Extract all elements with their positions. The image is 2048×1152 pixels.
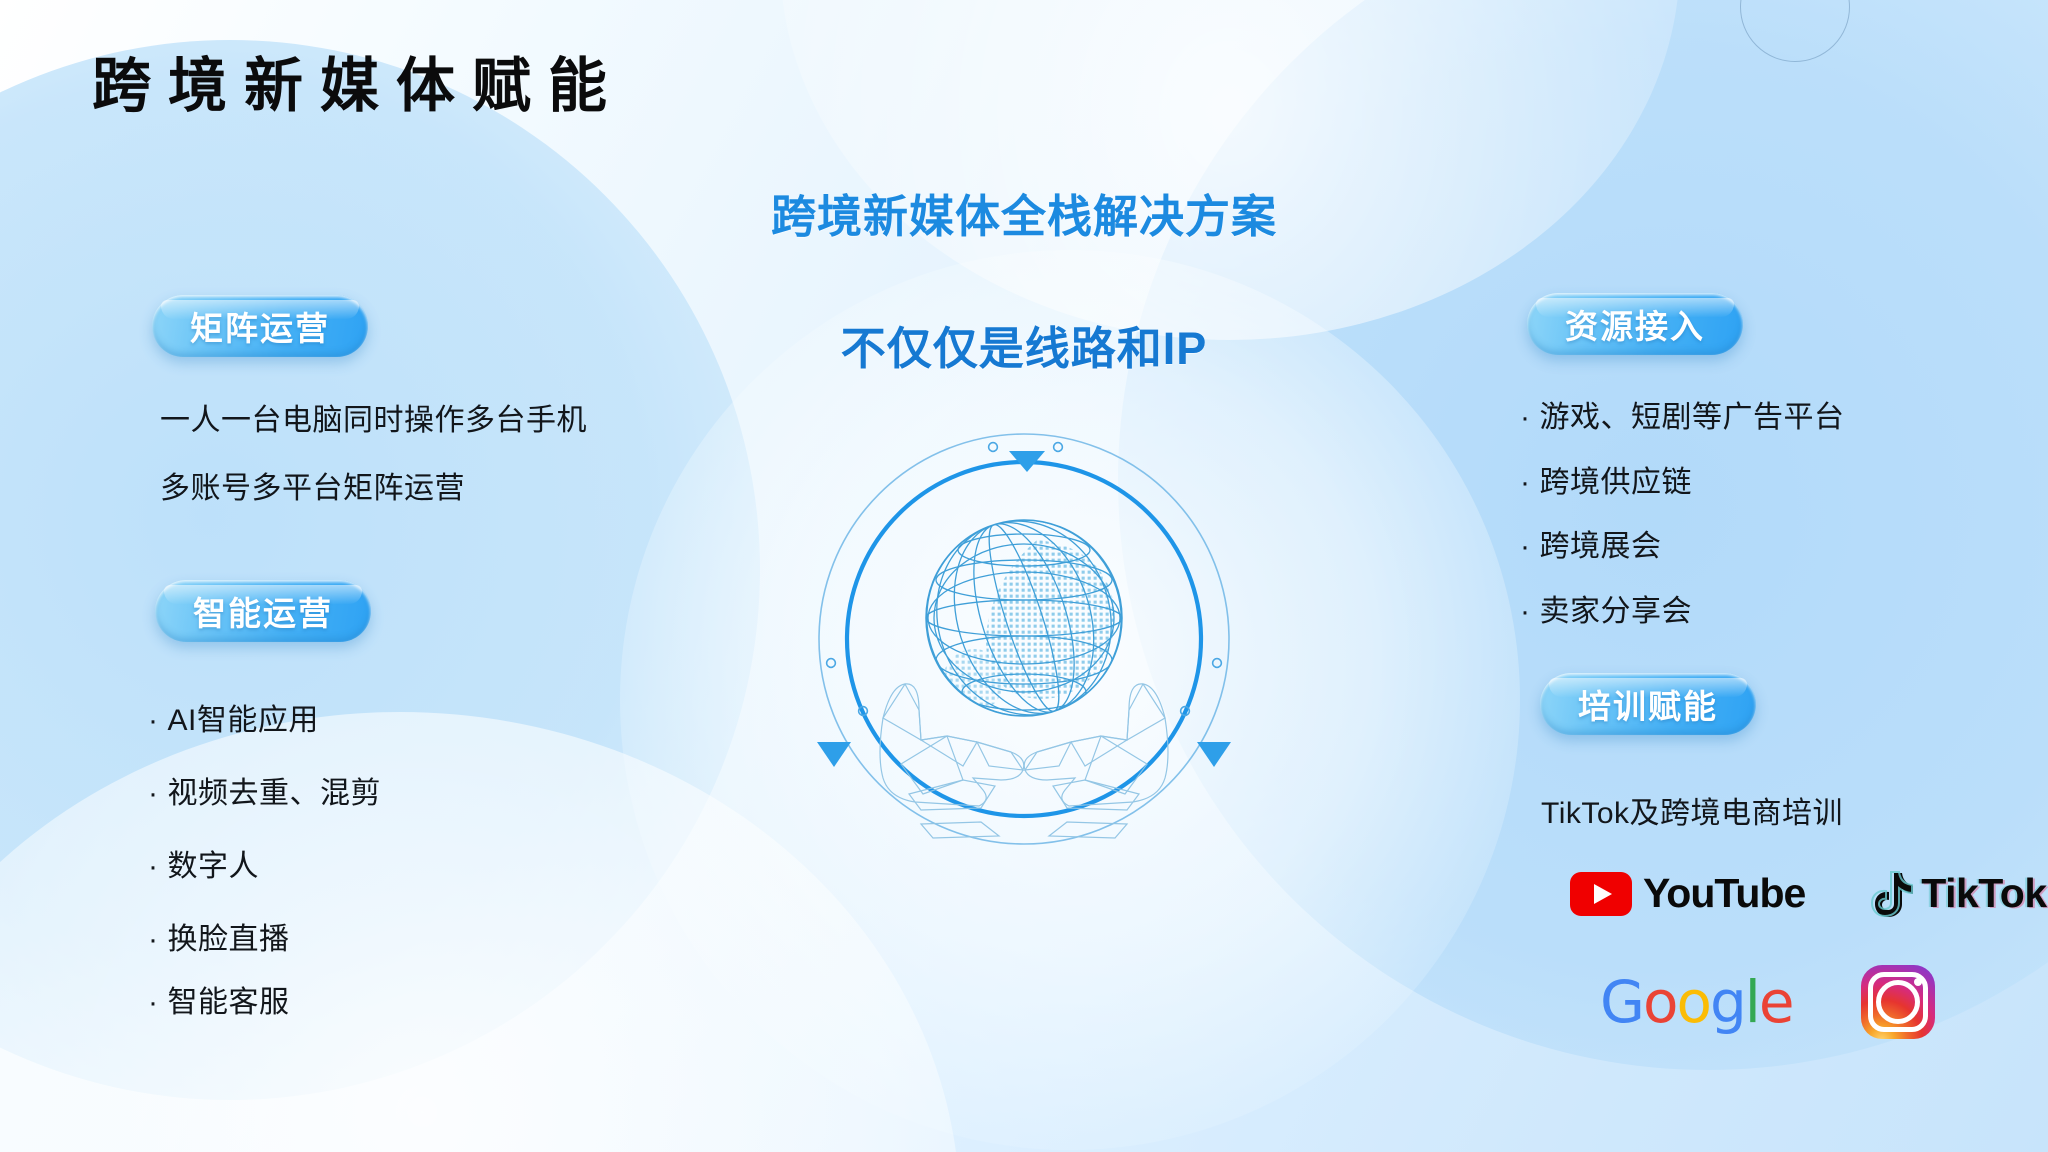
right-s1-item-1-label: 游戏、短剧等广告平台 [1540,401,1845,434]
badge-matrix-operations[interactable]: 矩阵运营 [152,295,368,357]
youtube-play-icon [1570,872,1632,916]
bullet-dot: · [148,777,159,811]
slide-canvas: 跨境新媒体赋能 跨境新媒体全栈解决方案 不仅仅是线路和IP [0,0,2048,1152]
google-letter-o2: o [1676,968,1710,1036]
google-letter-g1: G [1600,968,1643,1036]
bullet-dot: · [1520,530,1531,564]
tiktok-label: TikTok [1921,870,2046,917]
bullet-dot: · [1520,401,1531,435]
left-s2-item-2-label: 视频去重、混剪 [168,777,382,810]
google-letter-l: l [1745,968,1759,1036]
left-s1-item-2: 多账号多平台矩阵运营 [160,463,465,507]
logo-row-primary: YouTube TikTok [1570,870,2047,917]
center-headline-primary: 跨境新媒体全栈解决方案 [771,180,1277,245]
globe-illustration [805,420,1243,858]
left-s2-item-1: ·AI智能应用 [148,695,319,739]
google-letter-g2: g [1710,968,1745,1036]
badge-training-empowerment[interactable]: 培训赋能 [1540,673,1756,735]
left-s2-item-3-label: 数字人 [168,850,260,883]
right-s2-item-1: TikTok及跨境电商培训 [1541,788,1843,832]
left-s2-item-4: ·换脸直播 [148,914,290,958]
bullet-dot: · [148,923,159,957]
bullet-dot: · [148,986,159,1020]
badge-smart-operations[interactable]: 智能运营 [155,580,371,642]
center-headline-secondary: 不仅仅是线路和IP [841,312,1208,377]
left-s1-item-1: 一人一台电脑同时操作多台手机 [160,395,587,439]
bullet-dot: · [148,850,159,884]
logo-row-secondary: Google [1600,965,1935,1039]
background-top-sheen [780,0,1680,340]
left-s2-item-1-label: AI智能应用 [168,704,319,737]
google-logo[interactable]: Google [1600,968,1793,1036]
youtube-logo[interactable]: YouTube [1570,870,1805,917]
instagram-lens-icon [1876,980,1920,1024]
right-s1-item-3: ·跨境展会 [1520,521,1662,565]
globe-in-hands-icon [805,420,1243,858]
badge-resource-access[interactable]: 资源接入 [1527,293,1743,355]
background-blob-left [0,40,760,1100]
tiktok-logo[interactable]: TikTok [1869,870,2046,917]
right-s1-item-3-label: 跨境展会 [1540,530,1662,563]
bullet-dot: · [148,704,159,738]
left-s2-item-4-label: 换脸直播 [168,923,290,956]
right-s1-item-1: ·游戏、短剧等广告平台 [1520,392,1845,436]
bullet-dot: · [1520,466,1531,500]
page-title: 跨境新媒体赋能 [92,38,624,123]
left-s2-item-5-label: 智能客服 [168,986,290,1019]
left-s2-item-5: ·智能客服 [148,977,290,1021]
tiktok-note-icon [1869,871,1913,917]
google-letter-e: e [1759,968,1793,1036]
right-s1-item-4-label: 卖家分享会 [1540,595,1693,628]
right-s1-item-2-label: 跨境供应链 [1540,466,1693,499]
google-letter-o1: o [1643,968,1677,1036]
instagram-logo[interactable] [1861,965,1935,1039]
decorative-circle-outline [1740,0,1850,62]
left-s2-item-3: ·数字人 [148,841,259,885]
right-s1-item-4: ·卖家分享会 [1520,586,1692,630]
instagram-dot-icon [1914,978,1922,986]
bullet-dot: · [1520,595,1531,629]
right-s1-item-2: ·跨境供应链 [1520,457,1692,501]
youtube-label: YouTube [1643,870,1805,917]
left-s2-item-2: ·视频去重、混剪 [148,768,381,812]
